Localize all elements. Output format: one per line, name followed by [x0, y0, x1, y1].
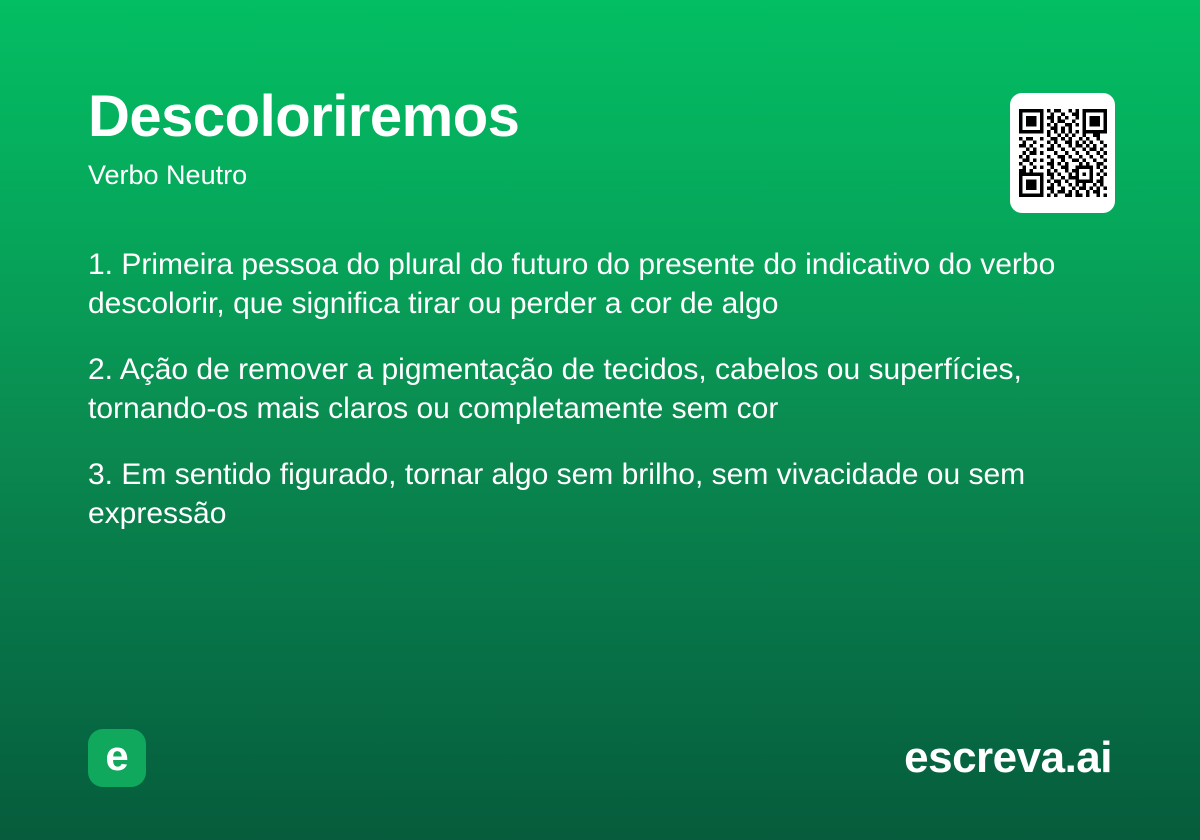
definition-card: Descoloriremos Verbo Neutro: [0, 0, 1200, 840]
definition-list: 1. Primeira pessoa do plural do futuro d…: [88, 245, 1088, 533]
definition-item: 1. Primeira pessoa do plural do futuro d…: [88, 245, 1088, 323]
escreva-logo-badge[interactable]: e: [88, 729, 146, 787]
definition-item: 2. Ação de remover a pigmentação de teci…: [88, 350, 1088, 428]
brand-wordmark: escreva.ai: [904, 736, 1112, 780]
card-footer: e escreva.ai: [88, 728, 1112, 788]
page-title: Descoloriremos: [88, 86, 1112, 149]
word-class-subtitle: Verbo Neutro: [88, 159, 1112, 191]
card-header: Descoloriremos Verbo Neutro: [88, 86, 1112, 191]
logo-letter: e: [105, 735, 128, 777]
qr-code-icon: [1019, 109, 1107, 197]
definition-item: 3. Em sentido figurado, tornar algo sem …: [88, 455, 1088, 533]
qr-code-container[interactable]: [1010, 93, 1115, 213]
